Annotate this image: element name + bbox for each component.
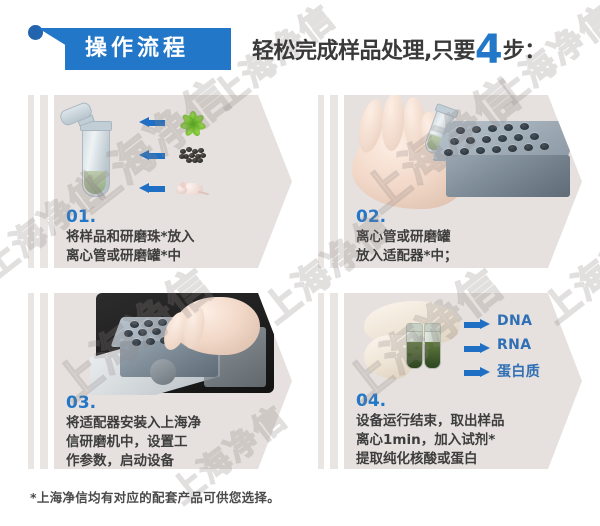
- headline-number: 4: [475, 27, 503, 73]
- mouse-icon: [176, 179, 206, 197]
- card-2-accent-bar-outer: [318, 95, 324, 268]
- arrow-left-icon-3: [139, 183, 165, 194]
- card-3-accent-bar-outer: [28, 293, 34, 469]
- card-4-accent-bar-inner: [330, 293, 338, 469]
- ribbon-dot-icon: [28, 25, 43, 40]
- step-1-text: 将样品和研磨珠*放入 离心管或研磨罐*中: [66, 228, 281, 266]
- vial-icon-1: [406, 323, 423, 369]
- step-3-number: 03.: [66, 393, 96, 413]
- footnote: *上海净信均有对应的配套产品可供您选择。: [30, 487, 280, 506]
- adapter-block-icon: [440, 121, 580, 213]
- step-1-number: 01.: [66, 207, 96, 227]
- headline-prefix: 轻松完成样品处理,只要: [252, 39, 475, 64]
- headline-suffix: 步：: [503, 39, 546, 64]
- step-4-number: 04.: [356, 391, 386, 411]
- ribbon-label: 操作流程: [85, 34, 225, 64]
- step-3-text: 将适配器安装入上海净 信研磨机中，设置工 作参数，启动设备: [66, 414, 281, 469]
- leaf-icon: [180, 109, 206, 135]
- step-card-3: 03. 将适配器安装入上海净 信研磨机中，设置工 作参数，启动设备: [54, 293, 292, 469]
- arrow-left-icon-2: [139, 150, 165, 161]
- arrow-right-icon-rna: [464, 343, 490, 354]
- header: 操作流程 轻松完成样品处理,只要4步：: [0, 0, 600, 88]
- page-title: 轻松完成样品处理,只要4步：: [252, 30, 546, 72]
- card-3-accent-bar-inner: [40, 293, 48, 469]
- output-label-protein: 蛋白质: [497, 361, 540, 381]
- centrifuge-tube-icon: [64, 103, 134, 203]
- step-2-text: 离心管或研磨罐 放入适配器*中；: [356, 228, 571, 266]
- card-1-accent-bar-outer: [28, 95, 34, 268]
- step-1-illustration: [54, 95, 292, 215]
- seeds-icon: [178, 145, 206, 163]
- step-2-illustration: [344, 95, 582, 217]
- card-2-accent-bar-inner: [330, 95, 338, 268]
- output-label-rna: RNA: [497, 337, 532, 353]
- step-card-2: 02. 离心管或研磨罐 放入适配器*中；: [344, 95, 582, 268]
- step-card-1: 01. 将样品和研磨珠*放入 离心管或研磨罐*中: [54, 95, 292, 268]
- arrow-left-icon-1: [139, 117, 165, 128]
- card-4-accent-bar-outer: [318, 293, 324, 469]
- infographic-page: 操作流程 轻松完成样品处理,只要4步：: [0, 0, 600, 526]
- step-4-text: 设备运行结束，取出样品 离心1min，加入试剂* 提取纯化核酸或蛋白: [356, 412, 576, 469]
- vial-icon-2: [424, 323, 441, 369]
- output-label-dna: DNA: [497, 313, 532, 329]
- step-4-illustration: DNA RNA 蛋白质: [344, 293, 582, 393]
- arrow-right-icon-protein: [464, 367, 490, 378]
- step-2-number: 02.: [356, 207, 386, 227]
- step-card-4: DNA RNA 蛋白质 04. 设备运行结束，取出样品 离心1min，加入试剂*…: [344, 293, 582, 469]
- card-1-accent-bar-inner: [40, 95, 48, 268]
- step-3-illustration: [54, 293, 292, 395]
- arrow-right-icon-dna: [464, 319, 490, 330]
